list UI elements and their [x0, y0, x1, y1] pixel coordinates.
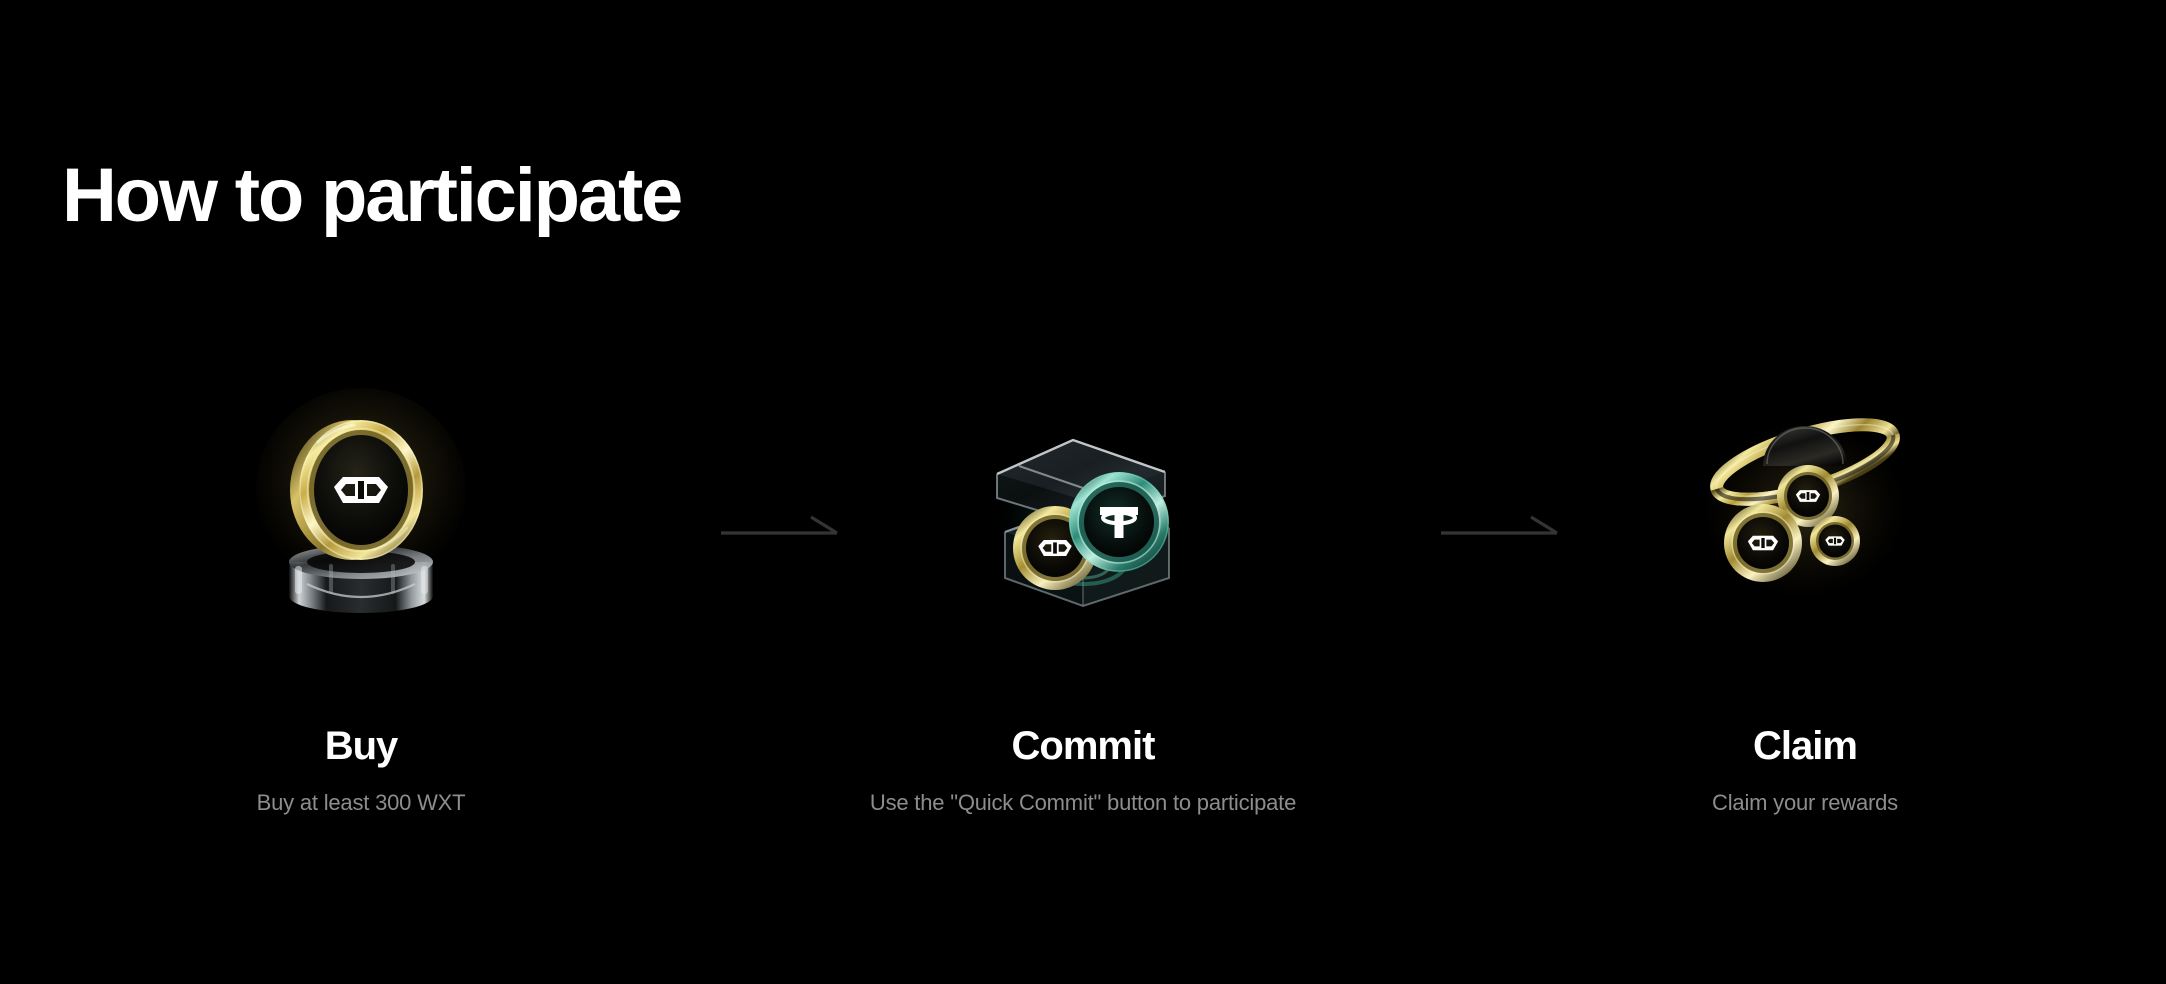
how-to-participate-section: How to participate [0, 0, 2166, 984]
steps-row: Buy Buy at least 300 WXT [0, 400, 2166, 870]
step-claim: Claim Claim your rewards [1444, 400, 2166, 814]
step-commit-art [933, 400, 1233, 620]
wxt-coin-on-pedestal-icon [211, 400, 511, 620]
page-title: How to participate [62, 158, 681, 234]
step-subtitle: Buy at least 300 WXT [257, 792, 466, 814]
step-subtitle: Claim your rewards [1712, 792, 1898, 814]
open-treasure-chest-with-coins-icon [933, 400, 1233, 620]
usdt-teal-coin [1069, 472, 1169, 572]
step-commit: Commit Use the "Quick Commit" button to … [722, 400, 1444, 814]
step-title: Buy [325, 726, 398, 766]
step-title: Claim [1753, 726, 1857, 766]
step-title: Commit [1012, 726, 1155, 766]
step-buy: Buy Buy at least 300 WXT [0, 400, 722, 814]
step-claim-art [1655, 400, 1955, 620]
gold-ring-with-coins-icon [1655, 400, 1955, 620]
wxt-coin-small-right [1810, 516, 1860, 566]
step-subtitle: Use the "Quick Commit" button to partici… [870, 792, 1296, 814]
wxt-coin-large-left [1724, 504, 1802, 582]
step-buy-art [211, 400, 511, 620]
